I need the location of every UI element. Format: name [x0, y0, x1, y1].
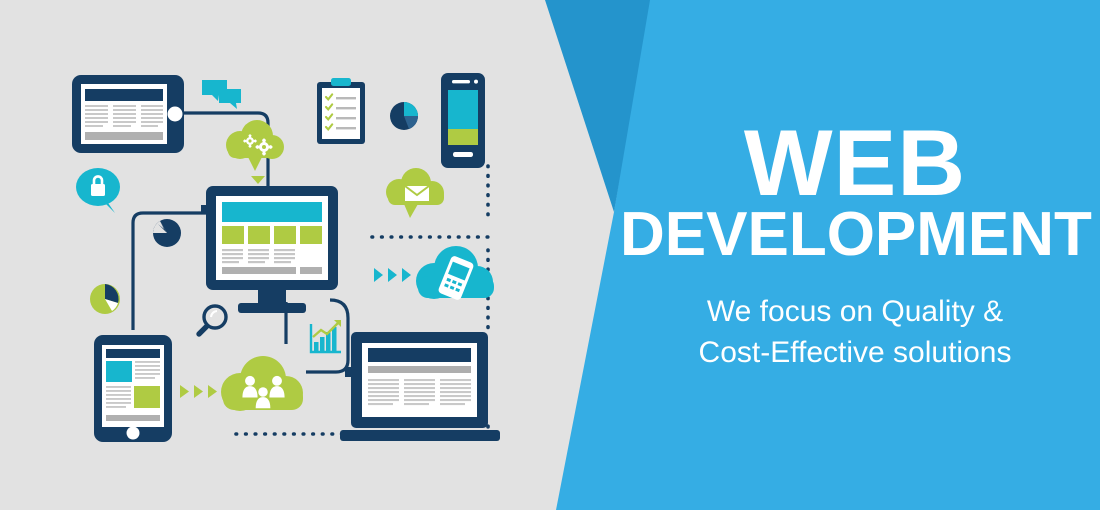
- devices-illustration: [0, 0, 1100, 510]
- chat-bubbles-icon: [202, 80, 241, 109]
- email-bubble-icon: [386, 168, 444, 218]
- smartphone: [441, 73, 485, 168]
- pie-chart-green-icon: [90, 284, 120, 314]
- pie-chart-navy-icon: [153, 219, 181, 247]
- tablet-landscape: [72, 75, 184, 153]
- pie-chart-small-icon: [390, 102, 418, 130]
- tablet-portrait: [94, 335, 172, 442]
- arrow-triangles-cyan: [374, 268, 411, 282]
- bar-chart-growth-icon: [311, 320, 341, 352]
- arrow-triangles-green: [180, 385, 217, 398]
- cloud-gears-icon: [226, 120, 284, 171]
- cloud-people-icon: [221, 356, 303, 411]
- laptop: [340, 332, 500, 441]
- clipboard-checklist-icon: [317, 78, 365, 144]
- lock-bubble-icon: [76, 168, 120, 213]
- magnifier-icon: [199, 306, 226, 334]
- cloud-mobile-icon: [416, 246, 494, 301]
- promo-banner: WEB DEVELOPMENT We focus on Quality & Co…: [0, 0, 1100, 510]
- desktop-monitor: [201, 186, 338, 313]
